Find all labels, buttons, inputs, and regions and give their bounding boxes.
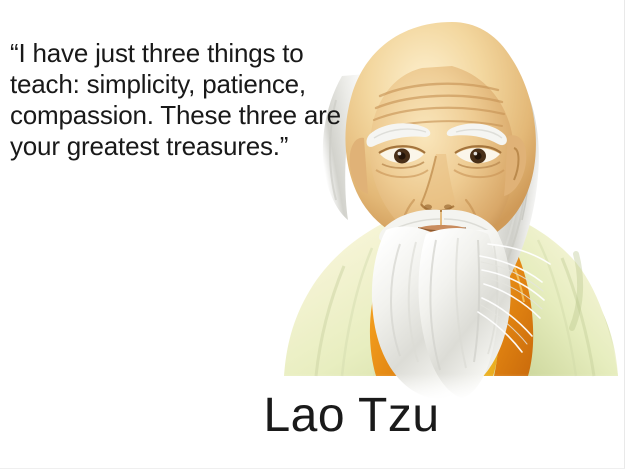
- attribution: Lao Tzu: [0, 390, 625, 442]
- attribution-name: Lao Tzu: [263, 390, 439, 442]
- quote-poster: “I have just three things to teach: simp…: [0, 0, 625, 469]
- quote-block: “I have just three things to teach: simp…: [10, 38, 350, 162]
- quote-text: “I have just three things to teach: simp…: [10, 38, 350, 162]
